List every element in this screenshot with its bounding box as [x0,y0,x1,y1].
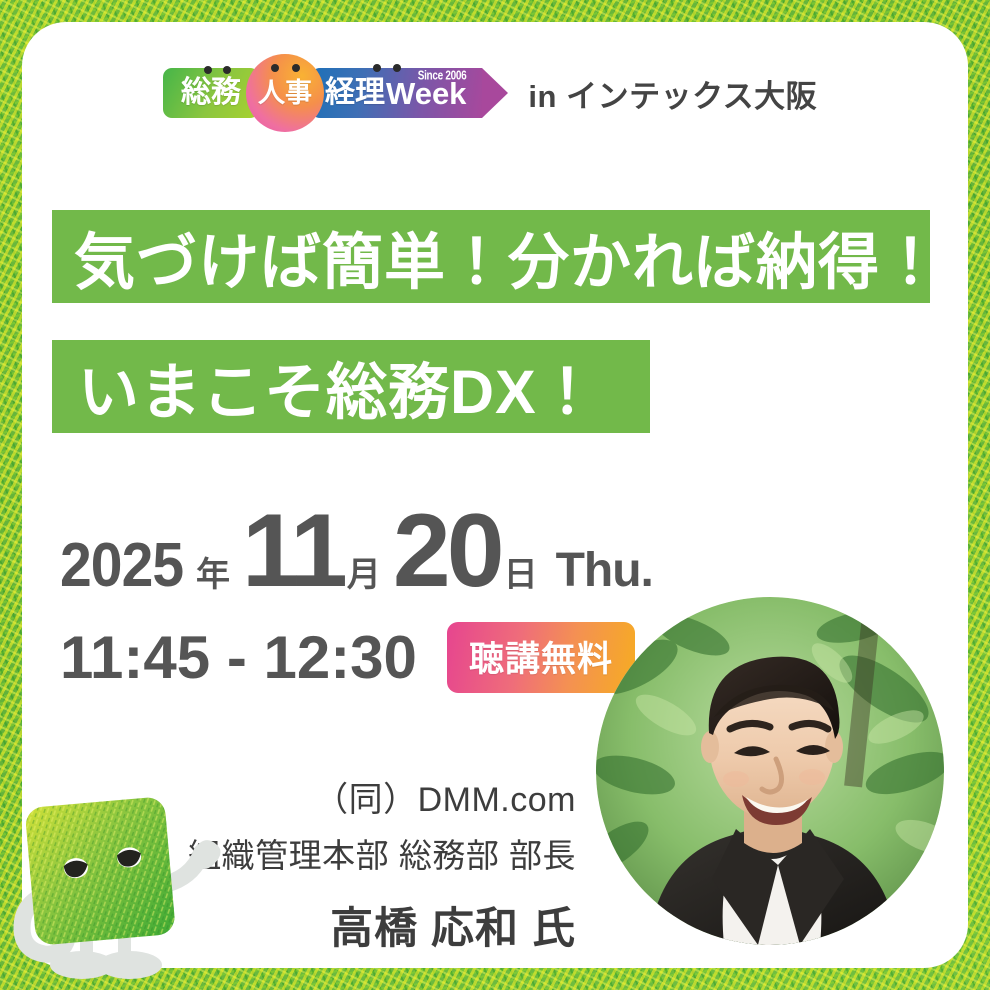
logo-label-keiri: 経理 [325,78,385,108]
logo-label-soumu: 総務 [181,78,241,108]
logo-eye-icon [373,64,381,72]
logo-eye-icon [223,66,231,74]
date-month-unit: 月 [347,547,381,596]
logo-segment-soumu: 総務 [163,68,259,118]
date-weekday: Thu. [556,543,653,598]
poster-root: 総務 人事 経理 Week Since 2006 in インテックス大阪 気づけ… [0,0,990,990]
date-day: 20 [393,510,501,593]
headline-line-2: いまこそ総務DX！ [52,340,650,433]
headline-line-1: 気づけば簡単！分かれば納得！ [52,210,930,303]
venue-label: in インテックス大阪 [528,71,817,116]
event-date: 2025 年 11 月 20 日 Thu. [60,510,653,601]
logo-label-jinji: 人事 [258,80,312,107]
event-time: 11:45 - 12:30 [60,623,417,692]
free-admission-badge: 聴講無料 [447,622,635,693]
speaker-name: 高橋 応和 氏 [188,894,576,956]
speaker-portrait-photo [596,597,944,945]
logo-arrow-icon [482,68,508,118]
logo-eye-icon [204,66,212,74]
speaker-info: （同）DMM.com 組織管理本部 総務部 部長 高橋 応和 氏 [188,772,576,956]
logo-since-label: Since 2006 [418,70,467,84]
logo-segment-keiri-week: 経理 Week Since 2006 [311,68,482,118]
logo-eye-icon [393,64,401,72]
logo-segment-jinji: 人事 [246,54,324,132]
speaker-title: 組織管理本部 総務部 部長 [188,829,576,877]
soumu-jinji-keiri-week-logo: 総務 人事 経理 Week Since 2006 [163,62,508,124]
logo-eye-icon [271,64,279,72]
date-year-unit: 年 [196,547,230,596]
green-square-mascot [8,768,238,990]
date-year: 2025 [60,530,183,601]
date-day-unit: 日 [504,547,538,596]
logo-eye-icon [292,64,300,72]
speaker-company: （同）DMM.com [188,772,576,821]
date-month: 11 [242,510,344,593]
event-logo-row: 総務 人事 経理 Week Since 2006 in インテックス大阪 [163,62,817,124]
event-time-row: 11:45 - 12:30 聴講無料 [60,622,635,693]
